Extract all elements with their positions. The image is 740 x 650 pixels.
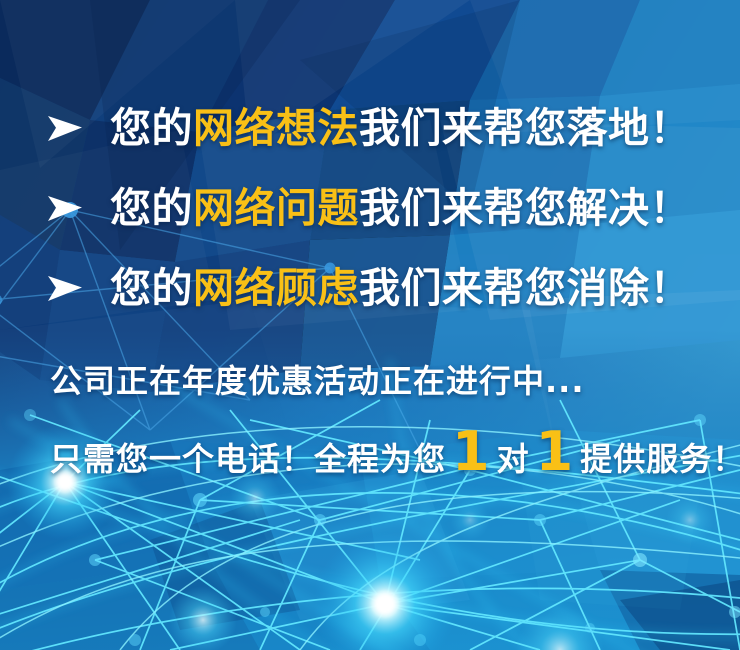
banner-content: 您的网络想法我们来帮您落地！ 您的网络问题我们来帮您解决！ 您的网络顾虑我们来帮… bbox=[0, 0, 740, 650]
promo-line-1: 公司正在年度优惠活动正在进行中... bbox=[50, 358, 584, 404]
bullet-prefix-3: 您的 bbox=[110, 264, 193, 312]
arrow-right-icon bbox=[44, 100, 86, 156]
bullet-row-2: 您的网络问题我们来帮您解决！ bbox=[44, 180, 691, 236]
promo-number-2: 1 bbox=[530, 425, 581, 479]
bullet-suffix-3: 我们来帮您消除！ bbox=[359, 264, 691, 312]
promo-number-1: 1 bbox=[446, 425, 497, 479]
bullet-text-3: 您的网络顾虑我们来帮您消除！ bbox=[110, 260, 691, 316]
bullet-highlight-2: 网络问题 bbox=[193, 184, 359, 232]
promo-line-2-mid: 对 bbox=[497, 432, 530, 486]
promo-line-2-part1: 只需您一个电话！全程为您 bbox=[50, 432, 446, 486]
bullet-text-2: 您的网络问题我们来帮您解决！ bbox=[110, 180, 691, 236]
bullet-text-1: 您的网络想法我们来帮您落地！ bbox=[110, 100, 691, 156]
bullet-prefix-2: 您的 bbox=[110, 184, 193, 232]
arrow-right-icon bbox=[44, 180, 86, 236]
bullet-prefix-1: 您的 bbox=[110, 104, 193, 152]
bullet-suffix-1: 我们来帮您落地！ bbox=[359, 104, 691, 152]
bullet-row-1: 您的网络想法我们来帮您落地！ bbox=[44, 100, 691, 156]
bullet-row-3: 您的网络顾虑我们来帮您消除！ bbox=[44, 260, 691, 316]
promo-line-2: 只需您一个电话！全程为您 1 对 1 提供服务！ bbox=[50, 425, 740, 486]
bullet-suffix-2: 我们来帮您解决！ bbox=[359, 184, 691, 232]
promo-line-2-part2: 提供服务！ bbox=[580, 432, 740, 486]
promo-banner: 您的网络想法我们来帮您落地！ 您的网络问题我们来帮您解决！ 您的网络顾虑我们来帮… bbox=[0, 0, 740, 650]
bullet-highlight-1: 网络想法 bbox=[193, 104, 359, 152]
arrow-right-icon bbox=[44, 260, 86, 316]
bullet-highlight-3: 网络顾虑 bbox=[193, 264, 359, 312]
